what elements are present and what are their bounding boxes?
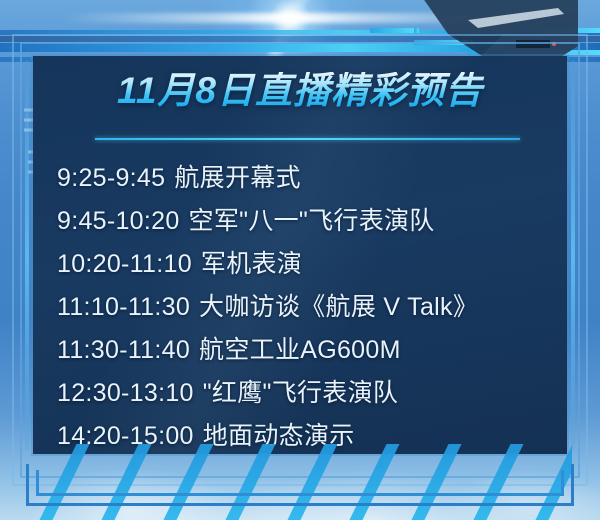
- schedule-event: 军机表演: [201, 250, 302, 278]
- schedule-event: 航空工业AG600M: [199, 336, 401, 364]
- schedule-time: 9:45-10:20: [57, 207, 180, 235]
- schedule-event: "红鹰"飞行表演队: [203, 379, 398, 407]
- schedule-time: 11:10-11:30: [57, 293, 190, 321]
- schedule-row: 10:20-11:10军机表演: [57, 243, 560, 286]
- schedule-row: 9:45-10:20空军"八一"飞行表演队: [57, 200, 560, 243]
- schedule-time: 9:25-9:45: [57, 164, 165, 192]
- schedule-event: 大咖访谈《航展 V Talk》: [199, 293, 478, 321]
- page-title: 11月8日直播精彩预告: [0, 72, 600, 109]
- schedule-time: 10:20-11:10: [57, 250, 192, 278]
- schedule-event: 航展开幕式: [174, 164, 301, 192]
- schedule-time: 11:30-11:40: [57, 336, 190, 364]
- title-underline: [95, 138, 520, 140]
- schedule-time: 12:30-13:10: [57, 379, 194, 407]
- schedule-row: 11:30-11:40航空工业AG600M: [57, 329, 560, 372]
- schedule-row: 9:25-9:45航展开幕式: [57, 157, 560, 200]
- bottom-bracket-inner: [36, 470, 564, 496]
- schedule-list: 9:25-9:45航展开幕式 9:45-10:20空军"八一"飞行表演队 10:…: [57, 157, 560, 458]
- schedule-row: 11:10-11:30大咖访谈《航展 V Talk》: [57, 286, 560, 329]
- live-schedule-poster: 11月8日直播精彩预告 9:25-9:45航展开幕式 9:45-10:20空军"…: [0, 0, 600, 520]
- schedule-event: 空军"八一"飞行表演队: [189, 207, 435, 235]
- schedule-row: 12:30-13:10"红鹰"飞行表演队: [57, 372, 560, 415]
- right-frame-accent: [571, 60, 575, 450]
